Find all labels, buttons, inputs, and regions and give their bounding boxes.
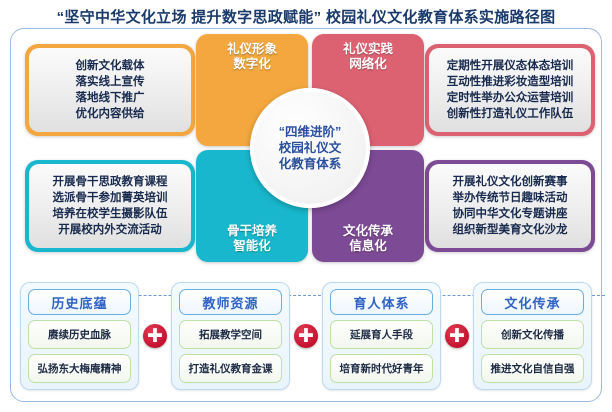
- panel-line: 定期性开展仪态体态培训: [447, 58, 574, 74]
- panel-content: 定期性开展仪态体态培训 互动性推进彩妆造型培训 定时性举办公众运营培训 创新性打…: [429, 48, 591, 132]
- pinwheel: 礼仪形象 数字化 礼仪实践 网络化 骨干培养 智能化 文化传承 信息化 “四维进: [196, 34, 424, 262]
- panel-line: 互动性推进彩妆造型培训: [447, 74, 574, 90]
- quadrant-label: 礼仪实践 网络化: [312, 42, 424, 72]
- quadrant-label: 骨干培养 智能化: [196, 224, 308, 254]
- panel-line: 协同中华文化专题讲座: [453, 206, 568, 222]
- panel-line: 组织新型美育文化沙龙: [453, 222, 568, 238]
- panel-line: 定时性举办公众运营培训: [447, 90, 574, 106]
- card-item[interactable]: 延展育人手段: [330, 320, 433, 349]
- card-header: 教师资源: [179, 289, 282, 315]
- panel-line: 优化内容供给: [76, 106, 145, 122]
- quadrant-label: 文化传承 信息化: [312, 224, 424, 254]
- panel-line: 落实线上宣传: [76, 74, 145, 90]
- quadrant-label: 礼仪形象 数字化: [196, 42, 308, 72]
- card-header: 育人体系: [330, 289, 433, 315]
- card-header: 文化传承: [481, 289, 584, 315]
- panel-line: 选派骨干参加菁英培训: [53, 190, 168, 206]
- quadrant-label-line1: 骨干培养: [227, 224, 277, 238]
- panel-line: 落地线下推广: [76, 90, 145, 106]
- foundation-cards: 历史底蕴 赓续历史血脉 弘扬东大梅庵精神 ✚ 教师资源 拓展教学空间 打造礼仪教…: [20, 280, 592, 392]
- panel-line: 开展礼仪文化创新赛事: [453, 174, 568, 190]
- card-education-system[interactable]: 育人体系 延展育人手段 培育新时代好青年: [322, 282, 441, 390]
- quadrant-label-line2: 智能化: [233, 239, 271, 253]
- diagram-root: “坚守中华文化立场 提升数字思政赋能” 校园礼仪文化教育体系实施路径图 创新文化…: [0, 0, 612, 412]
- panel-content: 开展礼仪文化创新赛事 举办传统节日趣味活动 协同中华文化专题讲座 组织新型美育文…: [429, 164, 591, 248]
- quadrant-label-line1: 礼仪实践: [343, 42, 393, 56]
- hub-text: “四维进阶” 校园礼仪文 化教育体系: [279, 124, 342, 172]
- hub-line1: “四维进阶”: [279, 125, 342, 139]
- panel-line: 开展校内外交流活动: [58, 222, 162, 238]
- card-item[interactable]: 培育新时代好青年: [330, 354, 433, 383]
- center-hub: “四维进阶” 校园礼仪文 化教育体系: [250, 88, 370, 208]
- card-item[interactable]: 打造礼仪教育金课: [179, 354, 282, 383]
- quadrant-label-line2: 数字化: [233, 57, 271, 71]
- quadrant-label-line1: 礼仪形象: [227, 42, 277, 56]
- card-cultural-inheritance[interactable]: 文化传承 创新文化传播 推进文化自信自强: [473, 282, 592, 390]
- plus-icon: ✚: [143, 324, 167, 348]
- hub-line2: 校园礼仪文: [279, 141, 342, 155]
- page-title: “坚守中华文化立场 提升数字思政赋能” 校园礼仪文化教育体系实施路径图: [0, 6, 612, 27]
- card-item[interactable]: 推进文化自信自强: [481, 354, 584, 383]
- panel-line: 开展骨干思政教育课程: [53, 174, 168, 190]
- panel-backbone-training-intelligent: 开展骨干思政教育课程 选派骨干参加菁英培训 培养在校学生摄影队伍 开展校内外交流…: [25, 160, 195, 252]
- panel-line: 创新性打造礼仪工作队伍: [447, 106, 574, 122]
- panel-ritual-practice-networking: 定期性开展仪态体态培训 互动性推进彩妆造型培训 定时性举办公众运营培训 创新性打…: [425, 44, 595, 136]
- panel-cultural-inheritance-informatization: 开展礼仪文化创新赛事 举办传统节日趣味活动 协同中华文化专题讲座 组织新型美育文…: [425, 160, 595, 252]
- plus-icon: ✚: [294, 324, 318, 348]
- panel-content: 创新文化载体 落实线上宣传 落地线下推广 优化内容供给: [29, 48, 191, 132]
- card-historical-heritage[interactable]: 历史底蕴 赓续历史血脉 弘扬东大梅庵精神: [20, 282, 139, 390]
- quadrant-label-line1: 文化传承: [343, 224, 393, 238]
- card-item[interactable]: 赓续历史血脉: [28, 320, 131, 349]
- panel-line: 培养在校学生摄影队伍: [53, 206, 168, 222]
- panel-line: 举办传统节日趣味活动: [453, 190, 568, 206]
- card-item[interactable]: 拓展教学空间: [179, 320, 282, 349]
- panel-line: 创新文化载体: [76, 58, 145, 74]
- hub-line3: 化教育体系: [279, 157, 342, 171]
- panel-content: 开展骨干思政教育课程 选派骨干参加菁英培训 培养在校学生摄影队伍 开展校内外交流…: [29, 164, 191, 248]
- card-teacher-resources[interactable]: 教师资源 拓展教学空间 打造礼仪教育金课: [171, 282, 290, 390]
- card-header: 历史底蕴: [28, 289, 131, 315]
- panel-ritual-image-digitalization: 创新文化载体 落实线上宣传 落地线下推广 优化内容供给: [25, 44, 195, 136]
- quadrant-label-line2: 信息化: [349, 239, 387, 253]
- plus-icon: ✚: [445, 324, 469, 348]
- card-item[interactable]: 创新文化传播: [481, 320, 584, 349]
- quadrant-label-line2: 网络化: [349, 57, 387, 71]
- card-item[interactable]: 弘扬东大梅庵精神: [28, 354, 131, 383]
